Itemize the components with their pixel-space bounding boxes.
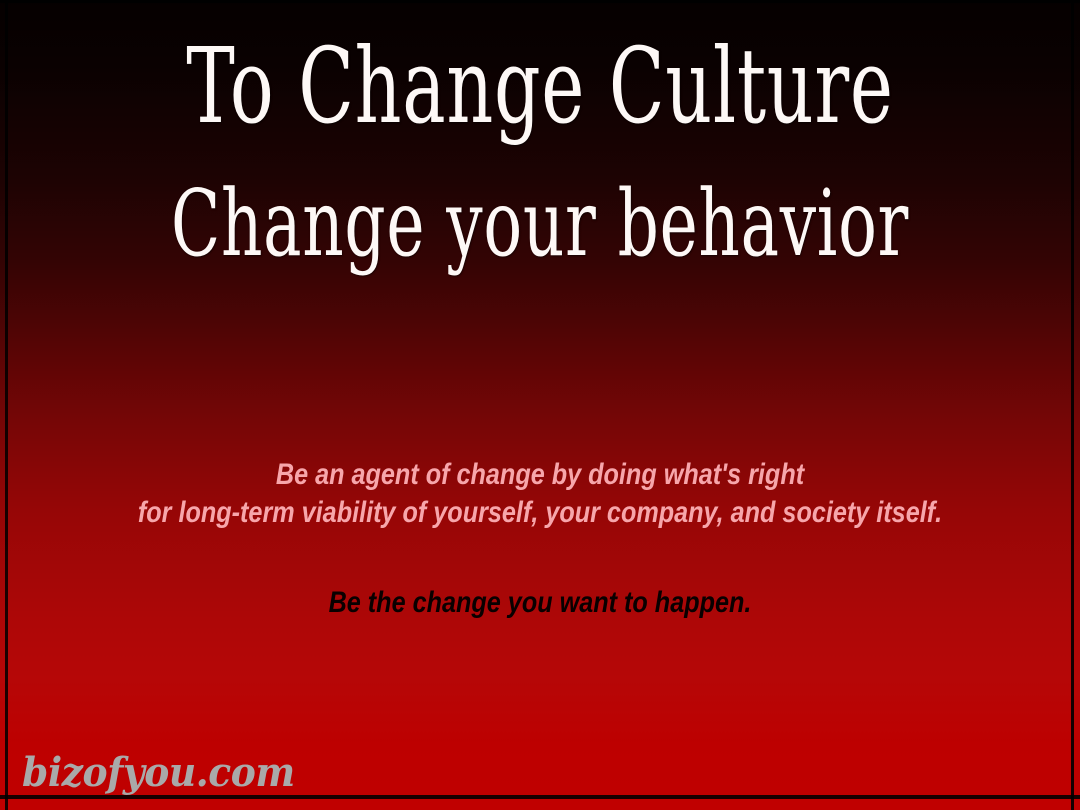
slide-content: To Change Culture Change your behavior B… bbox=[0, 0, 1080, 810]
body-line-1: Be an agent of change by doing what's ri… bbox=[86, 456, 993, 494]
slide-headline: To Change Culture bbox=[162, 26, 918, 146]
body-line-2: for long-term viability of yourself, you… bbox=[86, 494, 993, 532]
presentation-slide: To Change Culture Change your behavior B… bbox=[0, 0, 1080, 810]
slide-closing-statement: Be the change you want to happen. bbox=[86, 584, 993, 622]
footer-website-logo: bizofyou.com bbox=[22, 749, 295, 797]
slide-subheadline: Change your behavior bbox=[162, 170, 918, 278]
slide-body-text: Be an agent of change by doing what's ri… bbox=[0, 456, 1080, 532]
